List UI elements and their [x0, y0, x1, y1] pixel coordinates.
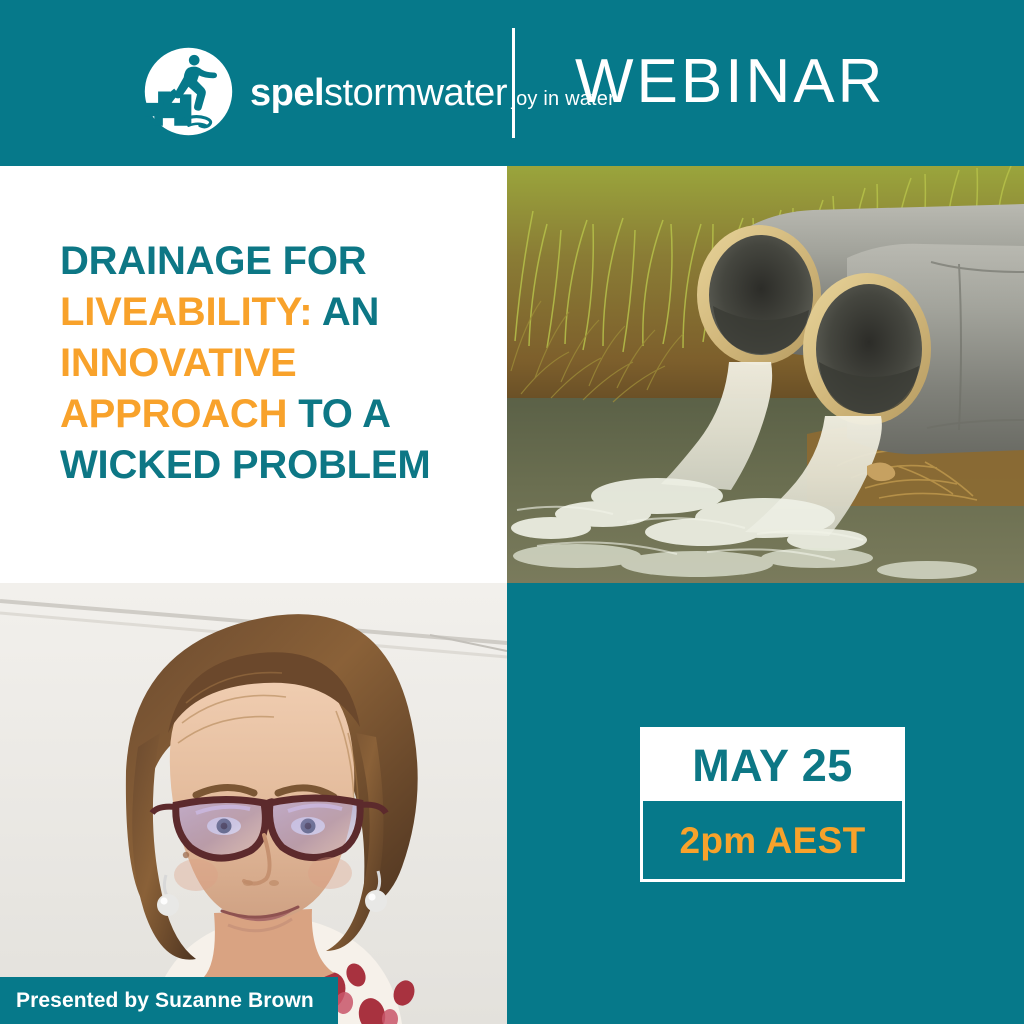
presenter-credit-bar: Presented by Suzanne Brown [0, 977, 338, 1024]
presenter-photo [0, 583, 507, 1024]
title-segment-2: LIVEABILITY: [60, 290, 322, 334]
header-divider [512, 28, 515, 138]
brand-wordmark-group: spelstormwater joy in water [250, 71, 615, 113]
event-details-panel: MAY 25 2pm AEST [507, 583, 1024, 1024]
brand-logo[interactable]: spelstormwater joy in water [141, 44, 615, 139]
page-title: DRAINAGE FOR LIVEABILITY: AN INNOVATIVE … [60, 236, 480, 491]
runner-stepping-stones-circle-icon [141, 44, 236, 139]
time-row: 2pm AEST [643, 801, 902, 879]
brand-word-spel: spel [250, 72, 324, 114]
title-segment-3: AN [322, 290, 379, 334]
webinar-poster: spelstormwater joy in water WEBINAR DRAI… [0, 0, 1024, 1024]
event-date: MAY 25 [692, 743, 853, 788]
date-row: MAY 25 [643, 730, 902, 801]
brand-word-stormwater: stormwater [324, 72, 507, 114]
title-segment-1: DRAINAGE FOR [60, 239, 367, 283]
brand-wordmark: spelstormwater [250, 72, 507, 114]
presenter-name: Presented by Suzanne Brown [0, 989, 314, 1013]
header-bar: spelstormwater joy in water WEBINAR [0, 0, 1024, 166]
title-panel: DRAINAGE FOR LIVEABILITY: AN INNOVATIVE … [0, 166, 507, 583]
stormwater-pipes-photo [507, 166, 1024, 583]
event-time: 2pm AEST [679, 822, 865, 859]
header-title: WEBINAR [575, 48, 885, 116]
date-time-box: MAY 25 2pm AEST [640, 727, 905, 882]
title-segment-4: INNOVATIVE APPROACH [60, 341, 298, 436]
